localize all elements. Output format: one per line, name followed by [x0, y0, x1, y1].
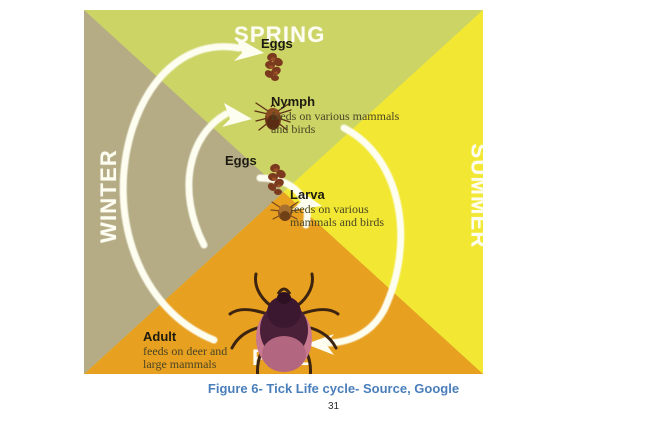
stage-eggs-mid: Eggs	[225, 154, 257, 168]
tick-life-cycle-diagram: SPRING SUMMER FALL WINTER	[84, 10, 483, 374]
season-label-winter: WINTER	[98, 149, 120, 243]
figure-caption: Figure 6- Tick Life cycle- Source, Googl…	[0, 381, 667, 396]
stage-larva: Larva feeds on various mammals and birds	[290, 188, 430, 229]
figure-block: SPRING SUMMER FALL WINTER	[84, 10, 483, 374]
stage-adult: Adult feeds on deer and large mammals	[143, 330, 263, 371]
stage-title: Larva	[290, 188, 430, 202]
stage-title: Eggs	[225, 154, 257, 168]
stage-description: feeds on deer and large mammals	[143, 345, 263, 371]
page-number: 31	[0, 401, 667, 412]
tick-eggs-icon	[260, 50, 290, 89]
stage-description: feeds on various mammals and birds	[290, 203, 430, 229]
stage-title: Adult	[143, 330, 263, 344]
stage-title: Eggs	[261, 37, 293, 51]
stage-title: Nymph	[271, 95, 456, 109]
stage-nymph: Nymph feeds on various mammals and birds	[271, 95, 456, 136]
stage-description: feeds on various mammals and birds	[271, 110, 456, 136]
season-label-summer: SUMMER	[467, 144, 483, 249]
stage-eggs-spring: Eggs	[261, 37, 293, 51]
